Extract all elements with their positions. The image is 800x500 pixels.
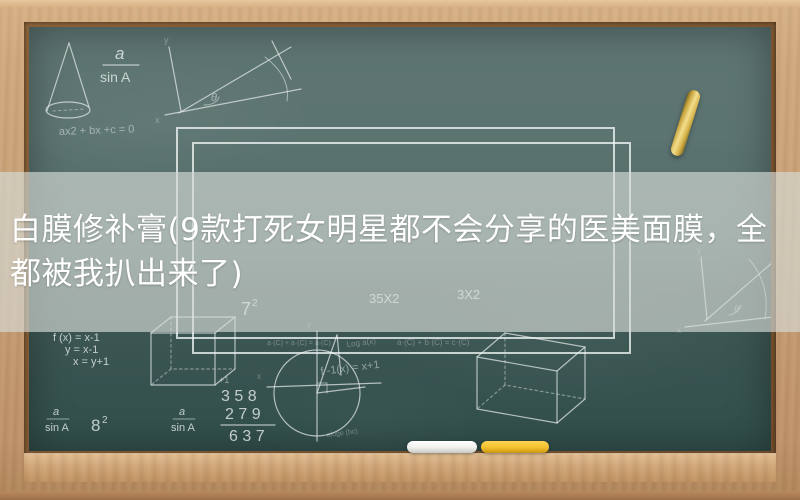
yellow-chalk-icon — [481, 441, 549, 453]
svg-text:x: x — [257, 372, 261, 381]
svg-text:a: a — [115, 44, 124, 63]
svg-text:a: a — [53, 406, 59, 418]
cube-diagram-right — [477, 333, 585, 423]
svg-text:2: 2 — [102, 415, 108, 426]
svg-text:θ: θ — [734, 304, 739, 314]
svg-text:8: 8 — [91, 416, 100, 435]
svg-text:sin A: sin A — [100, 69, 131, 85]
abc-expression-2: a·(C) + b·(C) = c·(C) — [397, 338, 470, 347]
chalkboard-surface: a sin A ax2 + bx +c = 0 y x θ — [29, 27, 771, 451]
angle-diagram-top: y x θ — [155, 35, 301, 125]
decorative-rectangle-inner — [192, 142, 631, 354]
svg-text:sin A: sin A — [171, 422, 196, 434]
svg-text:2: 2 — [252, 298, 258, 309]
svg-text:y: y — [307, 320, 311, 329]
svg-text:y = x-1: y = x-1 — [65, 344, 98, 356]
yellow-chalk-stick-icon — [669, 89, 701, 158]
chalkboard-screenshot: a sin A ax2 + bx +c = 0 y x θ — [0, 0, 800, 500]
quadratic-equation-1: ax2 + bx +c = 0 — [59, 123, 135, 138]
white-chalk-icon — [407, 441, 477, 453]
svg-text:f (x) = x-1: f (x) = x-1 — [53, 332, 100, 344]
chalk-ledge — [24, 453, 776, 482]
svg-text:3 5 8: 3 5 8 — [221, 388, 257, 405]
svg-text:7: 7 — [241, 299, 251, 319]
circle-diagram: y x — [257, 320, 381, 441]
eight-squared: 8 2 — [91, 415, 108, 435]
svg-text:θ: θ — [211, 92, 217, 104]
log-ax: Log a(x) — [346, 336, 377, 349]
cone-diagram — [46, 43, 90, 118]
svg-text:y: y — [697, 246, 701, 255]
frame-top-highlight — [0, 0, 800, 7]
decorative-rectangle-outer — [176, 127, 615, 339]
cube-diagram-center — [151, 317, 235, 385]
function-equations: f (x) = x-1 y = x-1 x = y+1 — [53, 332, 109, 368]
svg-text:a: a — [179, 406, 185, 418]
angle-diagram-right: y x θ — [677, 246, 771, 335]
inverse-function: f -1(x) = x+1 — [320, 359, 380, 378]
addition-sum: +1 3 5 8 2 7 9 6 3 7 — [219, 375, 275, 445]
svg-text:y: y — [164, 35, 169, 45]
a-over-sin-a-1: a sin A — [100, 44, 139, 85]
chalk-drawings-layer: a sin A ax2 + bx +c = 0 y x θ — [29, 27, 771, 451]
a-over-sin-a-3: a sin A — [171, 406, 196, 434]
svg-text:sin A: sin A — [45, 422, 70, 434]
svg-text:x: x — [155, 115, 160, 125]
svg-text:x = y+1: x = y+1 — [73, 356, 109, 368]
seven-squared: 7 2 — [241, 298, 258, 319]
svg-text:x: x — [677, 326, 681, 335]
a-over-sin-a-2: a sin A — [45, 406, 70, 434]
log-bc: aloge (bc) — [326, 428, 358, 439]
svg-text:6 3 7: 6 3 7 — [229, 428, 265, 445]
svg-text:2 7 9: 2 7 9 — [225, 406, 261, 423]
svg-text:+1: +1 — [219, 375, 229, 385]
multiply-3x2: 3X2 — [457, 287, 480, 302]
frame-bottom-shadow — [0, 491, 800, 500]
multiply-35x2: 35X2 — [369, 291, 399, 306]
abc-expression: a·(C) + a·(C) = a·(C) — [267, 340, 331, 347]
